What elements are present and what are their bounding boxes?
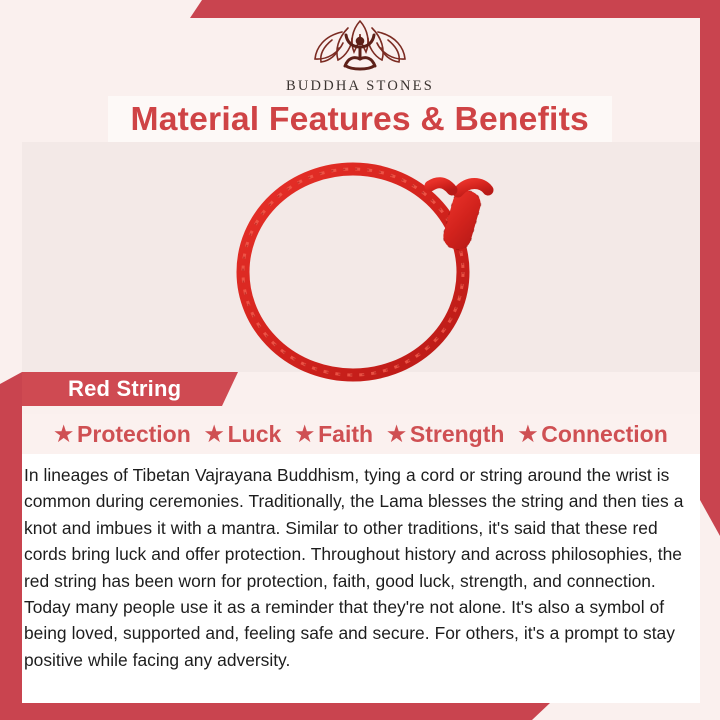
description-panel: In lineages of Tibetan Vajrayana Buddhis… [22,454,700,703]
frame-bar-bottom [0,703,550,720]
keyword-label: Faith [318,421,373,448]
star-icon: ★ [387,424,406,445]
star-icon: ★ [205,424,224,445]
keyword-list: ★ Protection ★ Luck ★ Faith ★ Strength ★… [22,414,700,454]
lotus-meditation-logo-icon [302,18,418,76]
page-title: Material Features & Benefits [131,100,589,138]
keyword-item: ★ Strength [387,421,504,448]
frame-bar-left [0,372,22,720]
keyword-label: Protection [77,421,191,448]
star-icon: ★ [518,424,537,445]
keyword-label: Luck [228,421,282,448]
brand-name: BUDDHA STONES [286,78,434,95]
keyword-item: ★ Connection [518,421,667,448]
product-label: Red String [68,376,181,402]
keyword-item: ★ Faith [295,421,373,448]
description-text: In lineages of Tibetan Vajrayana Buddhis… [24,462,688,673]
product-label-ribbon: Red String [22,372,238,406]
star-icon: ★ [54,424,73,445]
keyword-label: Connection [541,421,668,448]
keyword-label: Strength [410,421,505,448]
infographic-page: BUDDHA STONES Material Features & Benefi… [0,0,720,720]
brand-logo: BUDDHA STONES [0,18,720,95]
keyword-item: ★ Protection [54,421,191,448]
keyword-item: ★ Luck [205,421,282,448]
page-title-band: Material Features & Benefits [108,96,612,142]
star-icon: ★ [295,424,314,445]
red-braided-string-bracelet-image [230,150,500,382]
frame-bar-top [190,0,720,18]
